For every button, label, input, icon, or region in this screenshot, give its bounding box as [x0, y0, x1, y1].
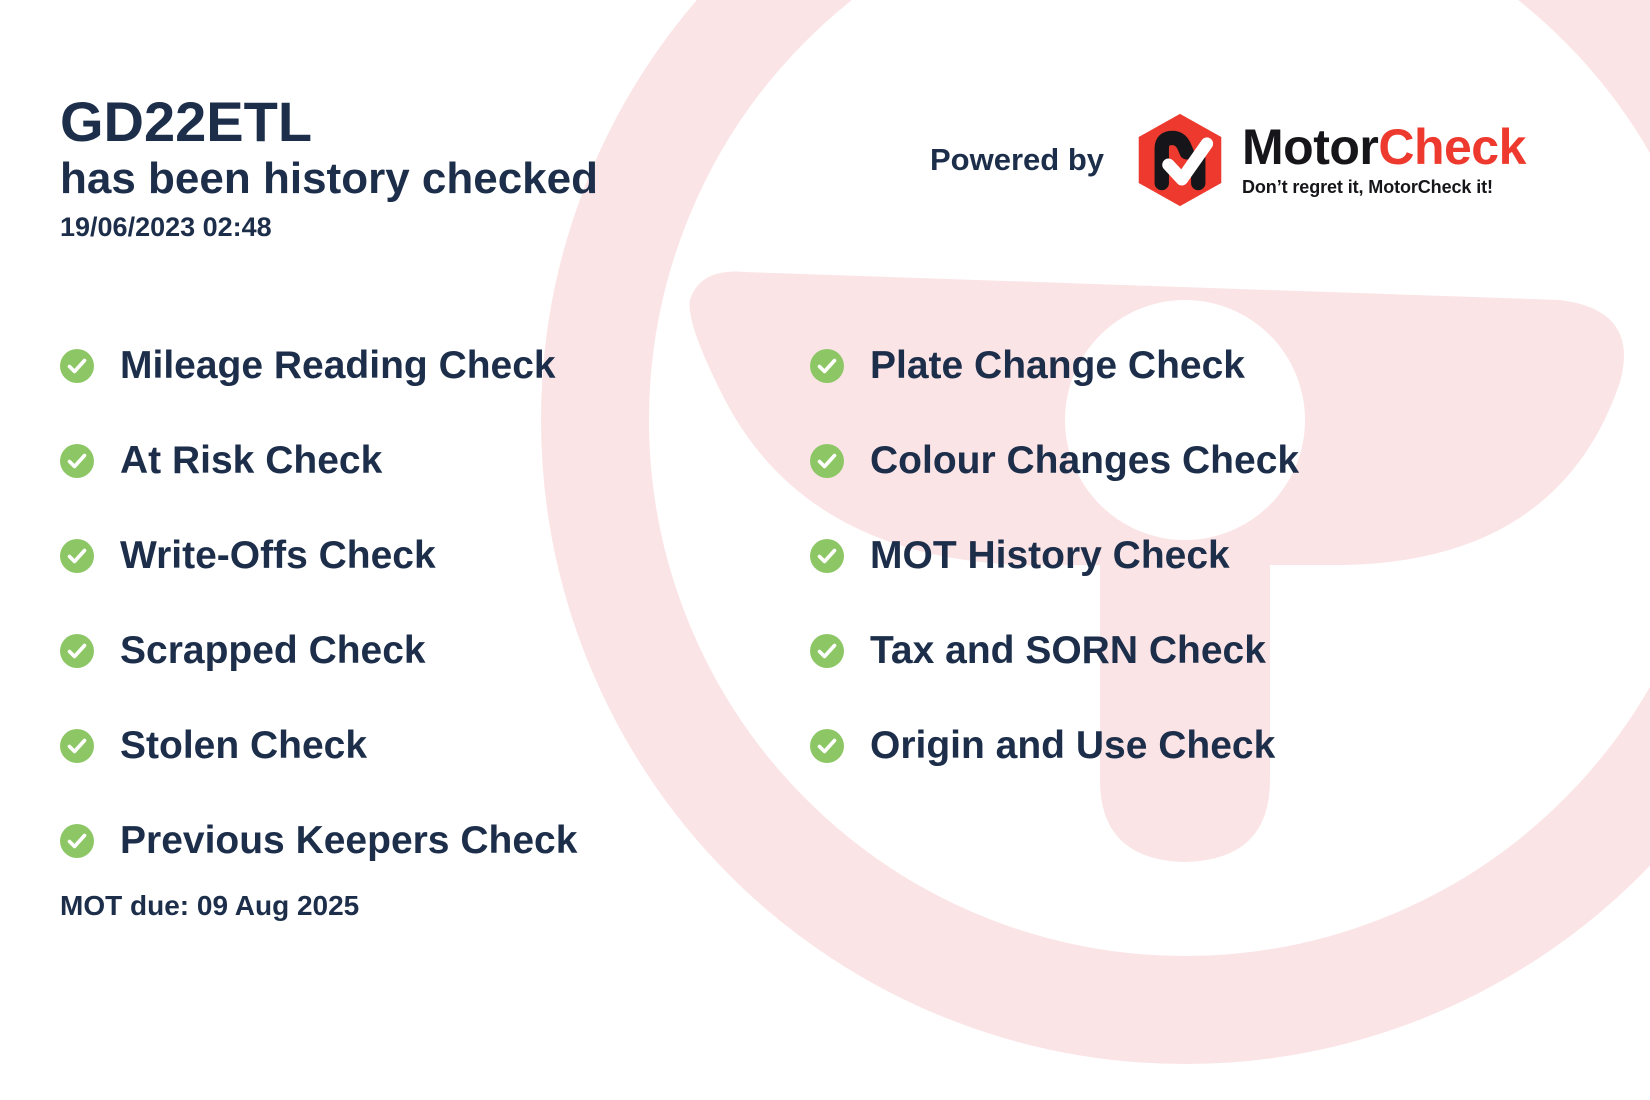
check-item[interactable]: MOT History Check	[810, 508, 1570, 603]
motorcheck-wordmark-group: MotorCheck Don’t regret it, MotorCheck i…	[1242, 122, 1526, 198]
wordmark-motor: Motor	[1242, 119, 1378, 175]
check-item-label: MOT History Check	[870, 536, 1230, 575]
check-circle-icon	[60, 539, 94, 573]
check-item-label: Scrapped Check	[120, 631, 426, 670]
check-circle-icon	[810, 349, 844, 383]
check-circle-icon	[810, 539, 844, 573]
check-item-label: Stolen Check	[120, 726, 367, 765]
powered-by-label: Powered by	[930, 142, 1104, 178]
check-item-label: At Risk Check	[120, 441, 382, 480]
mot-due-text: MOT due: 09 Aug 2025	[60, 890, 359, 922]
motorcheck-hexagon-icon	[1132, 112, 1228, 208]
check-timestamp: 19/06/2023 02:48	[60, 212, 598, 243]
brand-tagline: Don’t regret it, MotorCheck it!	[1242, 177, 1526, 198]
check-item-label: Plate Change Check	[870, 346, 1245, 385]
check-item[interactable]: Tax and SORN Check	[810, 603, 1570, 698]
checks-grid: Mileage Reading Check At Risk Check Writ…	[60, 318, 1600, 888]
check-circle-icon	[60, 444, 94, 478]
vehicle-history-check-card: GD22ETL has been history checked 19/06/2…	[0, 0, 1650, 1100]
check-item[interactable]: Colour Changes Check	[810, 413, 1570, 508]
check-circle-icon	[810, 634, 844, 668]
check-item-label: Origin and Use Check	[870, 726, 1275, 765]
motorcheck-wordmark: MotorCheck	[1242, 122, 1526, 172]
check-item-label: Write-Offs Check	[120, 536, 436, 575]
check-circle-icon	[60, 634, 94, 668]
check-item[interactable]: Origin and Use Check	[810, 698, 1570, 793]
check-item[interactable]: Stolen Check	[60, 698, 810, 793]
powered-by-block: Powered by MotorCheck Don’t regret it, M…	[930, 112, 1526, 208]
check-circle-icon	[810, 729, 844, 763]
wordmark-check: Check	[1378, 119, 1526, 175]
check-item[interactable]: Previous Keepers Check	[60, 793, 810, 888]
motorcheck-logo[interactable]: MotorCheck Don’t regret it, MotorCheck i…	[1132, 112, 1526, 208]
check-item[interactable]: Plate Change Check	[810, 318, 1570, 413]
check-item[interactable]: At Risk Check	[60, 413, 810, 508]
check-item-label: Previous Keepers Check	[120, 821, 577, 860]
check-item-label: Mileage Reading Check	[120, 346, 556, 385]
check-item[interactable]: Mileage Reading Check	[60, 318, 810, 413]
vehicle-registration: GD22ETL	[60, 92, 598, 152]
card-header: GD22ETL has been history checked 19/06/2…	[60, 92, 598, 243]
check-circle-icon	[60, 729, 94, 763]
checks-left-column: Mileage Reading Check At Risk Check Writ…	[60, 318, 810, 888]
check-circle-icon	[60, 824, 94, 858]
checks-right-column: Plate Change Check Colour Changes Check …	[810, 318, 1570, 888]
check-circle-icon	[60, 349, 94, 383]
check-item-label: Colour Changes Check	[870, 441, 1299, 480]
check-item[interactable]: Scrapped Check	[60, 603, 810, 698]
header-subtitle: has been history checked	[60, 154, 598, 203]
check-circle-icon	[810, 444, 844, 478]
check-item-label: Tax and SORN Check	[870, 631, 1266, 670]
check-item[interactable]: Write-Offs Check	[60, 508, 810, 603]
